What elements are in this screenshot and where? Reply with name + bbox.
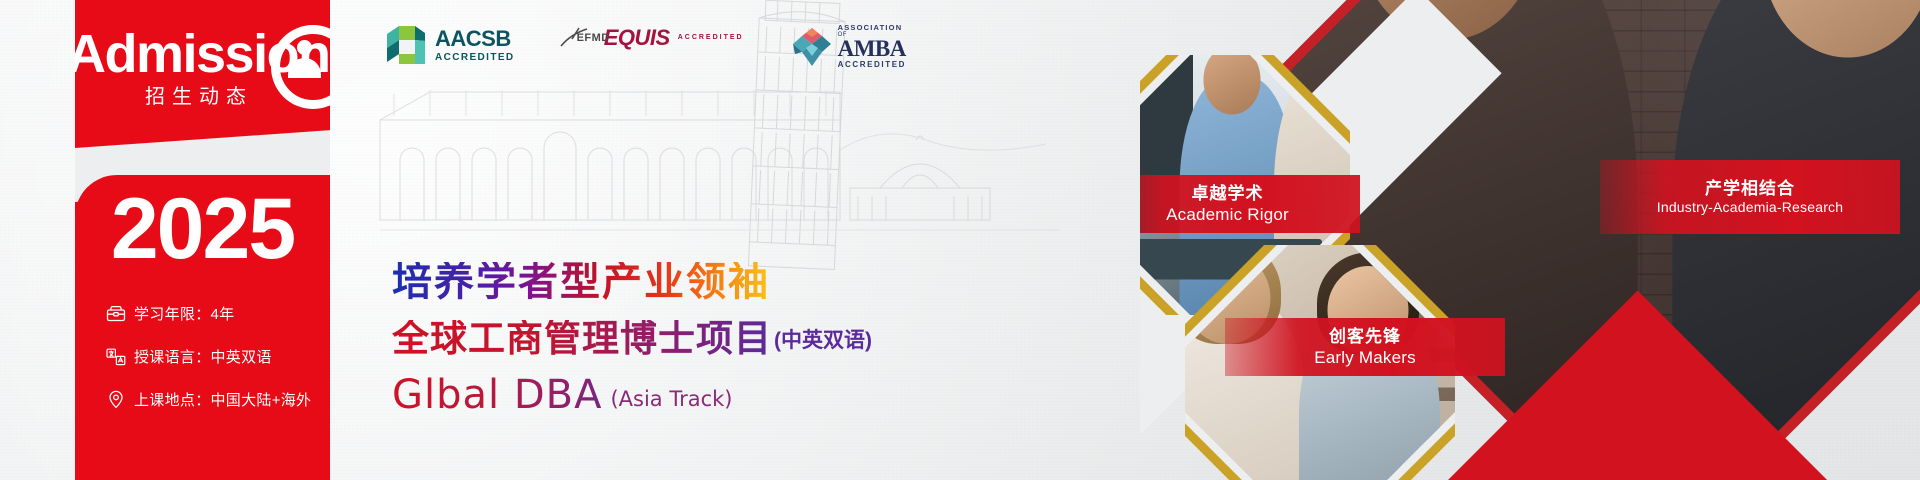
amba-diamond-icon xyxy=(792,27,832,67)
info-row-location: 上课地点：中国大陆+海外 xyxy=(105,389,345,410)
amba-title: AMBA xyxy=(838,38,906,60)
label-early-makers-cn: 创客先锋 xyxy=(1225,326,1505,347)
amba-accredited: ACCREDITED xyxy=(838,60,906,69)
dba-row: Glbal DBA (Asia Track) xyxy=(392,375,732,415)
program-info-list: 学习年限：4年 授课语言：中英双语 xyxy=(105,303,345,432)
amba-logo: ASSOCIATION OF AMBA ACCREDITED xyxy=(792,24,906,69)
equis-title: EQUIS xyxy=(604,26,670,49)
info-language-text: 授课语言：中英双语 xyxy=(134,346,272,367)
info-row-duration: 学习年限：4年 xyxy=(105,303,345,324)
amba-association: ASSOCIATION xyxy=(838,24,906,32)
equis-logo: EFMD EQUIS ACCREDITED xyxy=(563,24,744,49)
aacsb-accredited: ACCREDITED xyxy=(435,52,515,63)
aacsb-title: AACSB xyxy=(435,28,515,50)
dba-title: Glbal DBA xyxy=(392,375,602,415)
left-red-panel: Admission 招生动态 2025 学习年限：4年 xyxy=(75,0,330,480)
label-industry-academia: 产学相结合 Industry-Academia-Research xyxy=(1600,160,1900,234)
label-early-makers-en: Early Makers xyxy=(1225,347,1505,368)
admission-cn: 招生动态 xyxy=(145,80,253,109)
accreditation-logos: AACSB ACCREDITED EFMD EQUIS ACCREDITED xyxy=(385,24,906,69)
label-academic-rigor-en: Academic Rigor xyxy=(1140,204,1360,225)
location-pin-icon xyxy=(105,390,127,410)
label-academic-rigor-cn: 卓越学术 xyxy=(1140,183,1360,204)
calendar-icon xyxy=(105,304,127,324)
language-icon xyxy=(105,347,127,367)
amba-text: ASSOCIATION OF AMBA ACCREDITED xyxy=(838,24,906,69)
person-head-icon xyxy=(297,40,312,55)
label-academic-rigor: 卓越学术 Academic Rigor xyxy=(1140,175,1360,233)
subtitle-cn: 全球工商管理博士项目 xyxy=(392,320,772,357)
dba-track: (Asia Track) xyxy=(610,387,732,415)
info-location-text: 上课地点：中国大陆+海外 xyxy=(134,389,311,410)
year-label: 2025 xyxy=(75,186,330,272)
aacsb-logo: AACSB ACCREDITED xyxy=(385,24,515,66)
equis-accredited: ACCREDITED xyxy=(678,34,744,41)
label-industry-academia-cn: 产学相结合 xyxy=(1600,178,1900,199)
efmd-label: EFMD xyxy=(577,32,610,44)
subtitle-cn-paren: (中英双语) xyxy=(774,324,872,357)
info-row-language: 授课语言：中英双语 xyxy=(105,346,345,367)
subtitle-row: 全球工商管理博士项目 (中英双语) xyxy=(392,320,872,357)
info-duration-text: 学习年限：4年 xyxy=(134,303,234,324)
main-headline: 培养学者型产业领袖 xyxy=(392,262,770,302)
label-early-makers: 创客先锋 Early Makers xyxy=(1225,318,1505,376)
aacsb-text: AACSB ACCREDITED xyxy=(435,28,515,63)
photo-collage: 卓越学术 Academic Rigor 产学相结合 Industry-Acade… xyxy=(1140,0,1920,480)
admission-banner: Admission 招生动态 2025 学习年限：4年 xyxy=(0,0,1920,480)
aacsb-mark-icon xyxy=(385,24,427,66)
label-industry-academia-en: Industry-Academia-Research xyxy=(1600,199,1900,216)
admission-logo: Admission 招生动态 xyxy=(75,0,330,152)
